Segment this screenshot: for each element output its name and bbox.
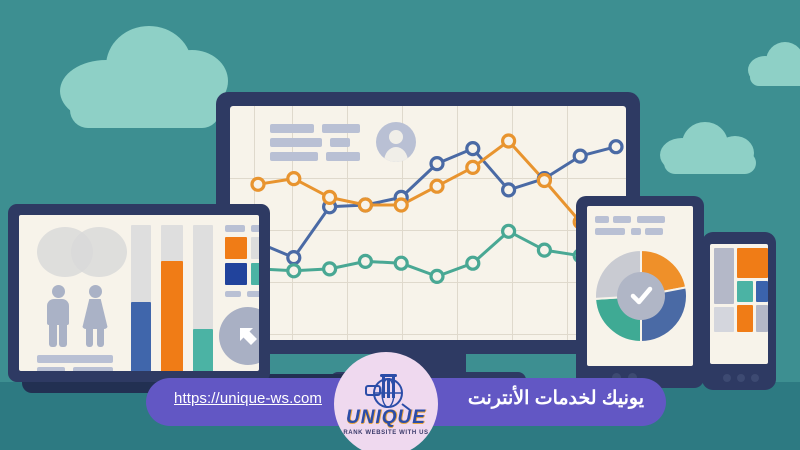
blue-bar-track (131, 225, 151, 371)
chart-point-blue (431, 158, 443, 170)
laptop-caption-bar (37, 367, 65, 371)
orange-bar (161, 261, 183, 371)
chart-point-blue (288, 252, 300, 264)
laptop-screen (19, 215, 259, 371)
globe-monument-icon (358, 374, 414, 410)
chart-point-blue (503, 184, 515, 196)
chart-point-orange (359, 199, 371, 211)
tablet-header-bar (613, 216, 631, 223)
teal-bar-track (193, 225, 213, 371)
chart-point-orange (503, 135, 515, 147)
chart-point-teal (467, 257, 479, 269)
panel-label-bar (225, 291, 241, 297)
tile-grey-sq (756, 305, 768, 332)
phone (702, 232, 776, 390)
laptop-caption-bar (37, 355, 113, 363)
checkmark-icon (627, 282, 655, 310)
chart-point-orange (467, 161, 479, 173)
chart-point-teal (503, 225, 515, 237)
chart-point-teal (288, 265, 300, 277)
chart-point-teal (538, 244, 550, 256)
phone-home-dots (723, 374, 759, 382)
swatch-grey (251, 237, 259, 259)
donut-center (617, 272, 665, 320)
chart-point-teal (359, 255, 371, 267)
blue-bar (131, 302, 151, 371)
tile-orange-big (737, 248, 768, 278)
tablet-header-bar (595, 228, 625, 235)
tablet-header-bar (637, 216, 665, 223)
male-figure-icon (43, 285, 73, 347)
panel-label-bar (225, 225, 245, 232)
chart-point-orange (395, 199, 407, 211)
monitor-screen (230, 106, 626, 340)
teal-bar (193, 329, 213, 371)
chart-point-teal (395, 257, 407, 269)
arrow-up-left-icon (219, 307, 259, 365)
phone-screen (710, 244, 768, 364)
logo-tagline: RANK WEBSITE WITH US (343, 430, 428, 436)
tablet-header-bar (595, 216, 609, 223)
tablet-header-bar (645, 228, 663, 235)
swatch-blue (225, 263, 247, 285)
tile-teal (737, 281, 753, 302)
chart-point-blue (467, 143, 479, 155)
panel-label-bar (247, 291, 259, 297)
line-chart (230, 106, 626, 340)
tablet-screen (587, 206, 693, 366)
chart-point-teal (324, 263, 336, 275)
tile-blue (756, 281, 768, 302)
logo-wordmark: UNIQUE (346, 408, 426, 427)
chart-point-blue (574, 150, 586, 162)
venn-circle-right (71, 227, 127, 277)
chart-point-orange (324, 191, 336, 203)
laptop (8, 204, 270, 382)
swatch-teal (251, 263, 259, 285)
female-figure-icon (79, 285, 111, 347)
panel-label-bar (251, 225, 259, 232)
tile-grey-tall (714, 248, 734, 304)
tile-grey-small (714, 307, 734, 332)
chart-point-teal (431, 270, 443, 282)
tile-orange-sm (737, 305, 753, 332)
tablet-header-bar (631, 228, 641, 235)
website-url-link[interactable]: https://unique-ws.com (174, 390, 322, 407)
chart-point-blue (610, 141, 622, 153)
tablet (576, 196, 704, 388)
chart-point-orange (252, 178, 264, 190)
illustration-canvas: https://unique-ws.com يونيك لخدمات الأنت… (0, 0, 800, 450)
orange-bar-track (161, 225, 183, 371)
unique-logo-badge[interactable]: UNIQUE RANK WEBSITE WITH US (334, 352, 438, 450)
chart-point-orange (288, 173, 300, 185)
chart-point-orange (431, 180, 443, 192)
laptop-caption-bar (73, 367, 113, 371)
swatch-orange (225, 237, 247, 259)
arabic-tagline: يونيك لخدمات الأنترنت (468, 387, 644, 410)
chart-point-orange (538, 175, 550, 187)
